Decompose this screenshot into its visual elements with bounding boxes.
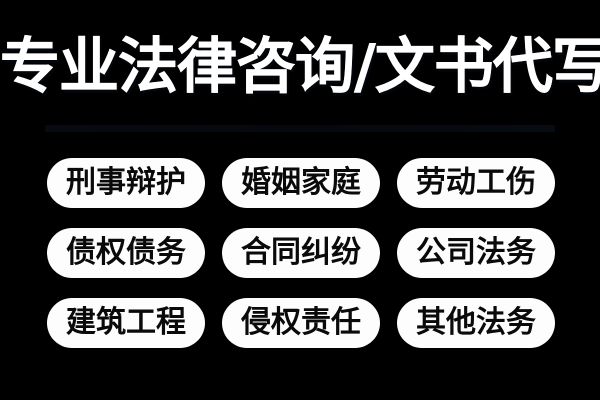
service-pill-label: 债权债务 (66, 236, 186, 270)
service-pill-grid: 刑事辩护 婚姻家庭 劳动工伤 债权债务 合同纠纷 公司法务 建筑工程 侵权责任 (47, 158, 555, 348)
service-pill-label: 侵权责任 (241, 306, 361, 340)
title-divider (45, 125, 555, 132)
service-pill-label: 婚姻家庭 (241, 166, 361, 200)
service-pill-label: 公司法务 (416, 236, 536, 270)
service-pill-label: 其他法务 (416, 306, 536, 340)
service-pill-label: 合同纠纷 (241, 236, 361, 270)
poster-title: 专业法律咨询/文书代写 (0, 30, 600, 104)
service-pill-labor-injury[interactable]: 劳动工伤 (397, 158, 555, 208)
service-pill-corporate-legal[interactable]: 公司法务 (397, 228, 555, 278)
service-pill-criminal-defense[interactable]: 刑事辩护 (47, 158, 205, 208)
service-pill-contract-dispute[interactable]: 合同纠纷 (222, 228, 380, 278)
title-block: 专业法律咨询/文书代写 (0, 30, 600, 104)
service-pill-label: 刑事辩护 (66, 166, 186, 200)
service-pill-tort-liability[interactable]: 侵权责任 (222, 298, 380, 348)
service-pill-marriage-family[interactable]: 婚姻家庭 (222, 158, 380, 208)
service-pill-other-legal[interactable]: 其他法务 (397, 298, 555, 348)
service-pill-label: 劳动工伤 (416, 166, 536, 200)
service-pill-label: 建筑工程 (66, 306, 186, 340)
poster-canvas: 专业法律咨询/文书代写 刑事辩护 婚姻家庭 劳动工伤 债权债务 合同纠纷 公司法… (0, 0, 600, 400)
service-pill-creditor-debt[interactable]: 债权债务 (47, 228, 205, 278)
service-pill-construction-engineering[interactable]: 建筑工程 (47, 298, 205, 348)
